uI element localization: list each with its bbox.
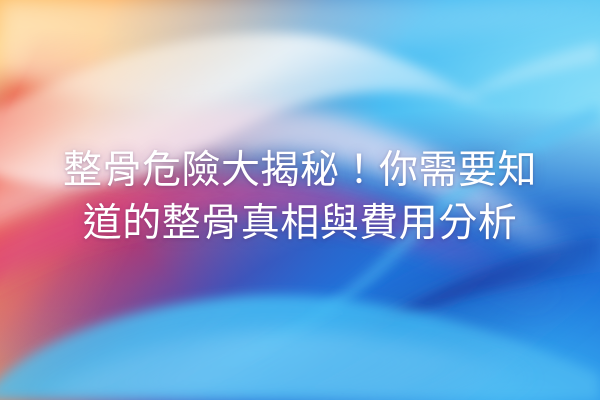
wave-highlight-filament [452,42,600,104]
headline-block: 整骨危險大揭秘！你需要知 道的整骨真相與費用分析 [0,146,600,248]
article-header-banner: 整骨危險大揭秘！你需要知 道的整骨真相與費用分析 [0,0,600,400]
headline-line-2: 道的整骨真相與費用分析 [83,199,518,248]
headline-line-1: 整骨危險大揭秘！你需要知 [63,146,537,195]
